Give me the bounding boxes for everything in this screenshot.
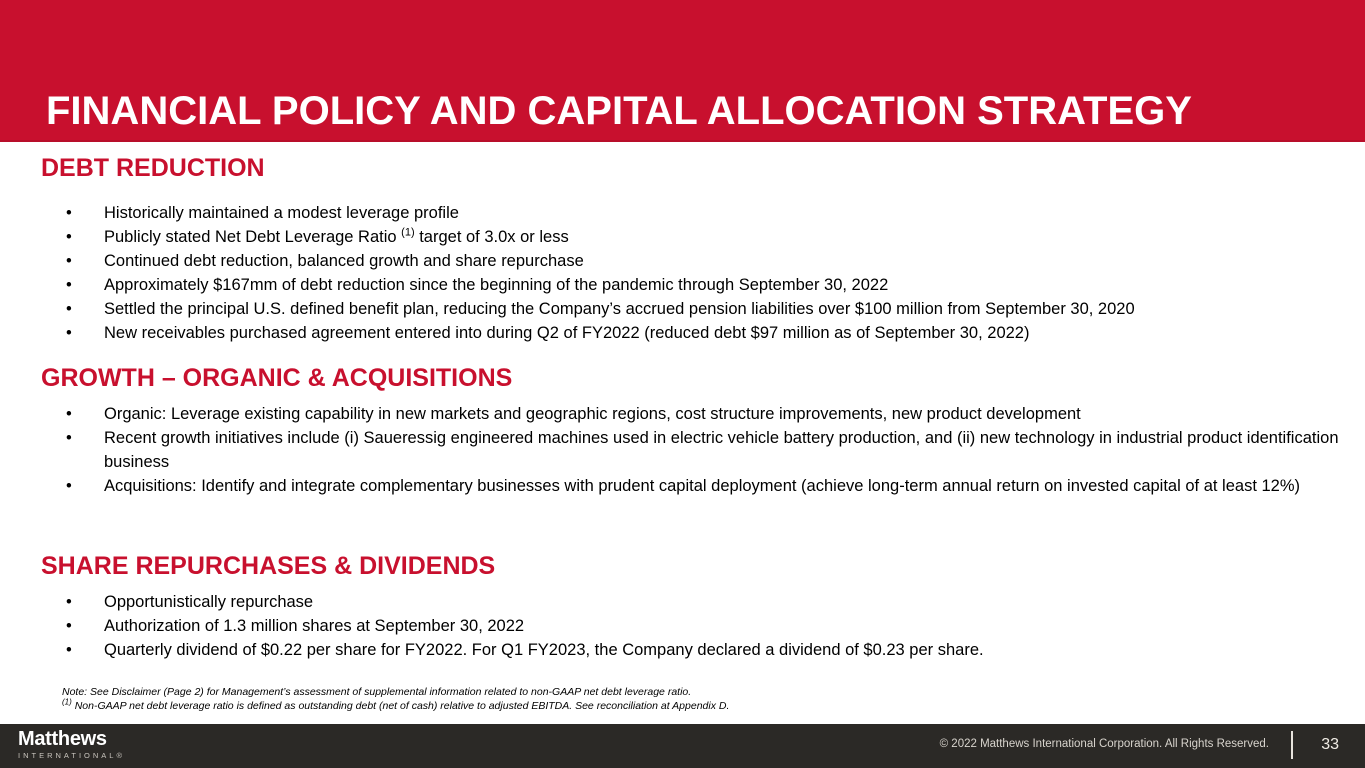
bullet-item: •Continued debt reduction, balanced grow…: [0, 249, 1365, 273]
bullet-item: •Authorization of 1.3 million shares at …: [0, 614, 1365, 638]
bullet-marker: •: [66, 614, 80, 638]
bullet-marker: •: [66, 321, 80, 345]
bullet-item: •Historically maintained a modest levera…: [0, 201, 1365, 225]
bullet-text: Acquisitions: Identify and integrate com…: [104, 477, 1300, 495]
bullet-text: Organic: Leverage existing capability in…: [104, 405, 1081, 423]
bullet-marker: •: [66, 590, 80, 614]
footnotes: Note: See Disclaimer (Page 2) for Manage…: [62, 686, 1352, 713]
page-number: 33: [1321, 736, 1339, 754]
bullet-marker: •: [66, 273, 80, 297]
matthews-logo: Matthews INTERNATIONAL®: [18, 729, 125, 761]
bullet-item: •Approximately $167mm of debt reduction …: [0, 273, 1365, 297]
footnote-one: (1) Non-GAAP net debt leverage ratio is …: [62, 700, 1352, 714]
bullet-marker: •: [66, 402, 80, 426]
bullet-item: •Quarterly dividend of $0.22 per share f…: [0, 638, 1365, 662]
copyright-text: © 2022 Matthews International Corporatio…: [940, 738, 1269, 750]
slide: FINANCIAL POLICY AND CAPITAL ALLOCATION …: [0, 0, 1365, 768]
page-title: FINANCIAL POLICY AND CAPITAL ALLOCATION …: [46, 88, 1192, 134]
bullet-marker: •: [66, 297, 80, 321]
bullet-item: •New receivables purchased agreement ent…: [0, 321, 1365, 345]
bullet-list: •Opportunistically repurchase•Authorizat…: [0, 590, 1365, 662]
footnote-one-text: Non-GAAP net debt leverage ratio is defi…: [72, 700, 730, 712]
footnote-marker: (1): [62, 697, 72, 706]
bullet-marker: •: [66, 249, 80, 273]
bullet-text: New receivables purchased agreement ente…: [104, 324, 1029, 342]
bullet-text: Approximately $167mm of debt reduction s…: [104, 276, 888, 294]
bullet-marker: •: [66, 474, 80, 498]
bullet-item: •Organic: Leverage existing capability i…: [0, 402, 1365, 426]
logo-wordmark: Matthews: [18, 729, 125, 750]
bullet-text: Quarterly dividend of $0.22 per share fo…: [104, 641, 984, 659]
bullet-superscript: (1): [401, 227, 414, 239]
bullet-marker: •: [66, 225, 80, 249]
bullet-item: •Publicly stated Net Debt Leverage Ratio…: [0, 225, 1365, 249]
bullet-text: Opportunistically repurchase: [104, 593, 313, 611]
logo-tagline: INTERNATIONAL®: [18, 751, 125, 761]
section-heading: SHARE REPURCHASES & DIVIDENDS: [41, 552, 495, 581]
section-heading: GROWTH – ORGANIC & ACQUISITIONS: [41, 364, 512, 393]
bullet-text: Settled the principal U.S. defined benef…: [104, 300, 1135, 318]
bullet-text: Continued debt reduction, balanced growt…: [104, 252, 584, 270]
slide-body: DEBT REDUCTION •Historically maintained …: [0, 142, 1365, 718]
bullet-list: •Organic: Leverage existing capability i…: [0, 402, 1365, 498]
section-heading: DEBT REDUCTION: [41, 154, 265, 183]
bullet-list: •Historically maintained a modest levera…: [0, 201, 1365, 345]
footnote-note: Note: See Disclaimer (Page 2) for Manage…: [62, 686, 1352, 700]
bullet-marker: •: [66, 426, 80, 450]
bullet-item: •Opportunistically repurchase: [0, 590, 1365, 614]
bullet-text: Historically maintained a modest leverag…: [104, 204, 459, 222]
footer-divider: [1291, 731, 1293, 759]
bullet-text: Publicly stated Net Debt Leverage Ratio: [104, 228, 401, 246]
bullet-item: •Settled the principal U.S. defined bene…: [0, 297, 1365, 321]
bullet-item: •Recent growth initiatives include (i) S…: [0, 426, 1365, 474]
bullet-marker: •: [66, 638, 80, 662]
bullet-text: Recent growth initiatives include (i) Sa…: [104, 429, 1339, 471]
bullet-text: Authorization of 1.3 million shares at S…: [104, 617, 524, 635]
bullet-item: •Acquisitions: Identify and integrate co…: [0, 474, 1365, 498]
bullet-text-cont: target of 3.0x or less: [415, 228, 569, 246]
bullet-marker: •: [66, 201, 80, 225]
